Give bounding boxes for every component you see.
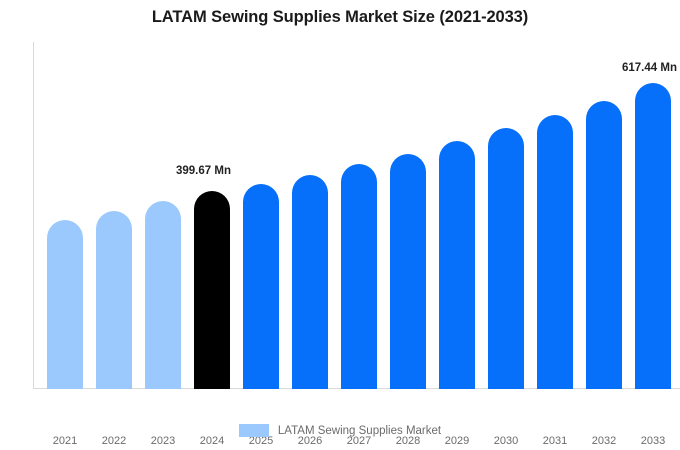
bar-2029[interactable] xyxy=(439,141,475,389)
legend-swatch-icon xyxy=(239,424,269,437)
bar-2032[interactable] xyxy=(586,101,622,389)
y-axis-line xyxy=(33,42,34,389)
bar-2026[interactable] xyxy=(292,175,328,389)
bar-2028[interactable] xyxy=(390,154,426,389)
chart-container: LATAM Sewing Supplies Market Size (2021-… xyxy=(0,0,680,450)
bar-2022[interactable] xyxy=(96,211,132,389)
bar-2021[interactable] xyxy=(47,220,83,389)
bar-value-label-2024: 399.67 Mn xyxy=(176,165,231,177)
chart-title: LATAM Sewing Supplies Market Size (2021-… xyxy=(0,8,680,27)
bar-2023[interactable] xyxy=(145,201,181,389)
legend-item-label[interactable]: LATAM Sewing Supplies Market xyxy=(278,425,441,437)
bar-2024[interactable] xyxy=(194,191,230,389)
bar-value-label-2033: 617.44 Mn xyxy=(622,62,677,74)
bar-2031[interactable] xyxy=(537,115,573,389)
chart-legend: LATAM Sewing Supplies Market xyxy=(0,424,680,437)
bar-2027[interactable] xyxy=(341,164,377,389)
plot-area: 0 100 200 300 400 500 600 700 399.67 Mn … xyxy=(33,42,680,389)
bar-2033[interactable] xyxy=(635,83,671,389)
bar-2025[interactable] xyxy=(243,184,279,389)
bar-2030[interactable] xyxy=(488,128,524,389)
